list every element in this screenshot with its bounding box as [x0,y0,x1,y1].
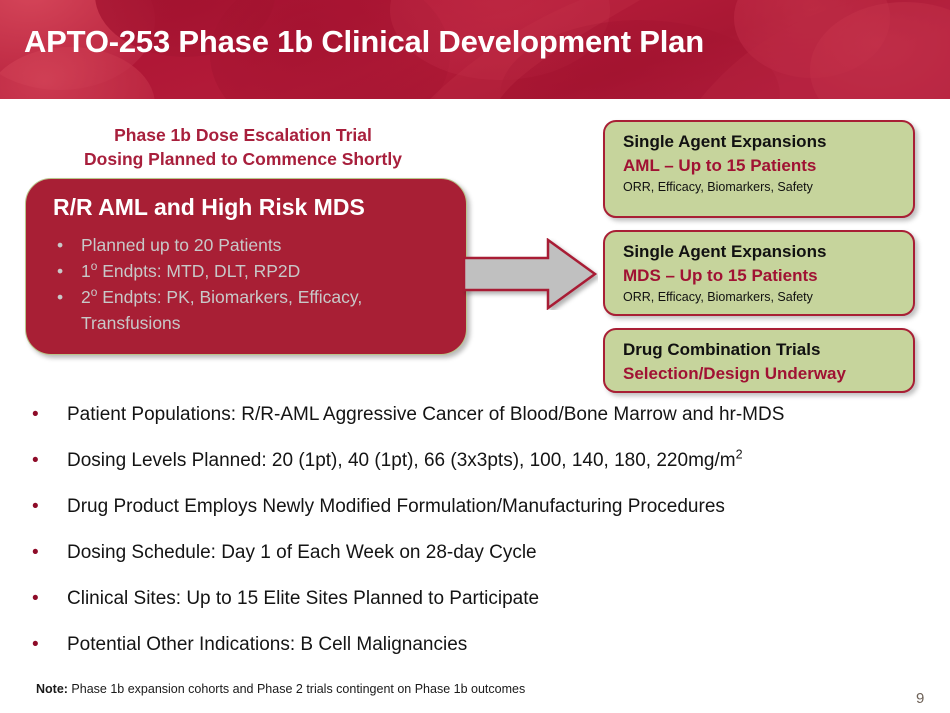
dose-escalation-card: R/R AML and High Risk MDS • Planned up t… [25,178,467,355]
list-item: • Clinical Sites: Up to 15 Elite Sites P… [26,587,932,633]
footnote: Note: Phase 1b expansion cohorts and Pha… [36,681,525,697]
list-item-label: Clinical Sites: Up to 15 Elite Sites Pla… [67,588,539,609]
trial-subtitle-line-2: Dosing Planned to Commence Shortly [28,147,458,171]
list-item: • 2o Endpts: PK, Biomarkers, Efficacy, T… [52,284,452,336]
list-item: • Potential Other Indications: B Cell Ma… [26,633,932,679]
list-item: • Patient Populations: R/R-AML Aggressiv… [26,403,932,449]
list-item-label-post: Endpts: MTD, DLT, RP2D [97,261,300,281]
list-item-label-pre: 1 [81,261,91,281]
list-item-label: Patient Populations: R/R-AML Aggressive … [67,404,784,425]
expansion-card-mds: Single Agent Expansions MDS – Up to 15 P… [603,230,915,316]
list-item-label-post: Endpts: PK, Biomarkers, Efficacy, Transf… [81,287,362,333]
bullet-icon: • [32,403,39,426]
bullet-icon: • [32,633,39,656]
expansion-card-aml-subtitle: AML – Up to 15 Patients [623,154,913,178]
trial-subtitle: Phase 1b Dose Escalation Trial Dosing Pl… [28,123,458,171]
list-item-label: Dosing Schedule: Day 1 of Each Week on 2… [67,542,537,563]
bullet-icon: • [57,232,63,258]
list-item-superscript: 2 [736,448,743,462]
header-underline [0,99,950,103]
bullet-icon: • [32,449,39,472]
footnote-label: Note: [36,682,68,696]
footnote-text: Phase 1b expansion cohorts and Phase 2 t… [68,682,525,696]
list-item-label: Drug Product Employs Newly Modified Form… [67,496,725,517]
page-number: 9 [916,690,938,708]
list-item: • Planned up to 20 Patients [52,232,452,258]
bullet-icon: • [32,495,39,518]
list-item: • Dosing Levels Planned: 20 (1pt), 40 (1… [26,449,932,495]
expansion-card-mds-title: Single Agent Expansions [623,240,913,264]
bullet-icon: • [32,587,39,610]
key-points-list: • Patient Populations: R/R-AML Aggressiv… [26,403,932,679]
arrow-right-icon [462,238,598,310]
dose-escalation-bullet-list: • Planned up to 20 Patients • 1o Endpts:… [52,232,452,336]
header-banner: APTO-253 Phase 1b Clinical Development P… [0,0,950,99]
expansion-card-aml-detail: ORR, Efficacy, Biomarkers, Safety [623,178,913,196]
bullet-icon: • [57,258,63,284]
combination-trials-card-title: Drug Combination Trials [623,338,913,362]
bullet-icon: • [32,541,39,564]
dose-escalation-card-title: R/R AML and High Risk MDS [53,194,365,221]
list-item: • 1o Endpts: MTD, DLT, RP2D [52,258,452,284]
expansion-card-aml: Single Agent Expansions AML – Up to 15 P… [603,120,915,218]
combination-trials-card: Drug Combination Trials Selection/Design… [603,328,915,393]
flow-arrow-right [462,238,598,310]
list-item-label: Planned up to 20 Patients [81,235,281,255]
list-item-label: Potential Other Indications: B Cell Mali… [67,634,467,655]
list-item: • Dosing Schedule: Day 1 of Each Week on… [26,541,932,587]
trial-subtitle-line-1: Phase 1b Dose Escalation Trial [28,123,458,147]
page-title: APTO-253 Phase 1b Clinical Development P… [24,24,704,60]
expansion-card-mds-detail: ORR, Efficacy, Biomarkers, Safety [623,288,913,306]
slide: APTO-253 Phase 1b Clinical Development P… [0,0,950,713]
combination-trials-card-subtitle: Selection/Design Underway [623,362,913,386]
expansion-card-aml-title: Single Agent Expansions [623,130,913,154]
expansion-card-mds-subtitle: MDS – Up to 15 Patients [623,264,913,288]
bullet-icon: • [57,284,63,310]
list-item-label-pre: 2 [81,287,91,307]
list-item: • Drug Product Employs Newly Modified Fo… [26,495,932,541]
list-item-label-pre: Dosing Levels Planned: 20 (1pt), 40 (1pt… [67,450,736,471]
